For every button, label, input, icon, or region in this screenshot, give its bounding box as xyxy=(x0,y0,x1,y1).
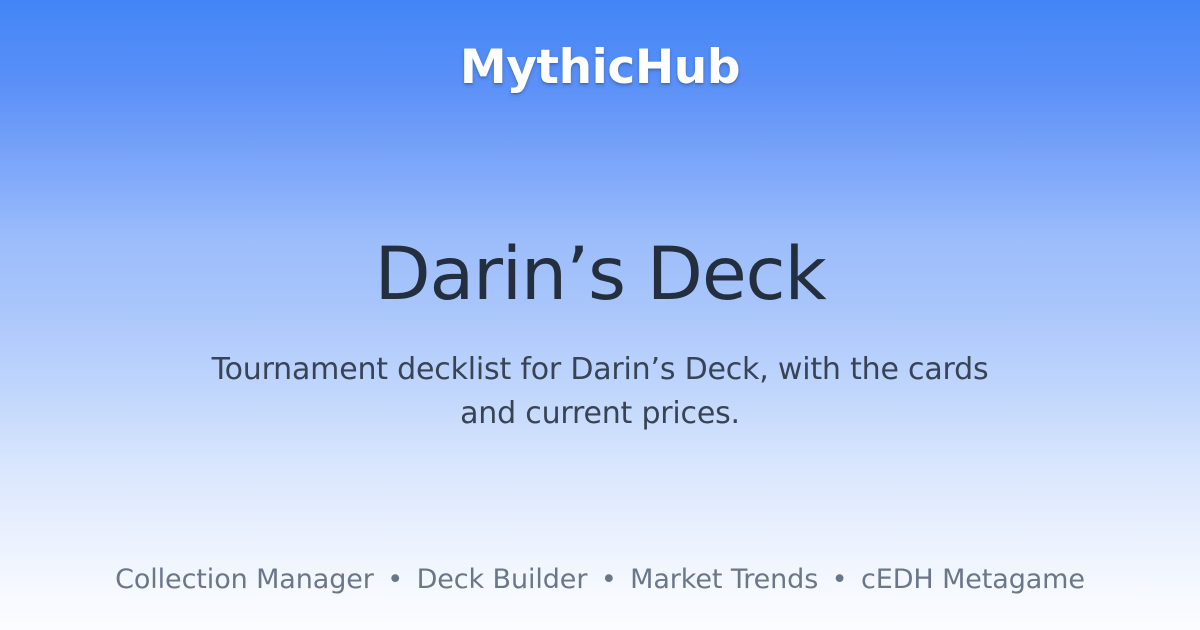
feature-item-market-trends: Market Trends xyxy=(630,564,818,595)
feature-item-collection-manager: Collection Manager xyxy=(115,564,374,595)
feature-item-cedh-metagame: cEDH Metagame xyxy=(861,564,1085,595)
feature-item-deck-builder: Deck Builder xyxy=(417,564,588,595)
feature-separator-3: • xyxy=(827,564,853,595)
feature-separator-1: • xyxy=(382,564,408,595)
page-subtitle-line-1: Tournament decklist for Darin’s Deck, wi… xyxy=(200,348,1000,392)
hero-section: Darin’s Deck Tournament decklist for Dar… xyxy=(0,238,1200,436)
brand-header: MythicHub xyxy=(0,44,1200,91)
brand-name: MythicHub xyxy=(460,44,740,91)
footer: Collection Manager • Deck Builder • Mark… xyxy=(0,564,1200,596)
page-subtitle: Tournament decklist for Darin’s Deck, wi… xyxy=(200,348,1000,436)
feature-list: Collection Manager • Deck Builder • Mark… xyxy=(115,564,1085,596)
feature-separator-2: • xyxy=(596,564,622,595)
page-title: Darin’s Deck xyxy=(0,238,1200,312)
page-subtitle-line-2: and current prices. xyxy=(200,392,1000,436)
og-share-card: MythicHub Darin’s Deck Tournament deckli… xyxy=(0,0,1200,630)
